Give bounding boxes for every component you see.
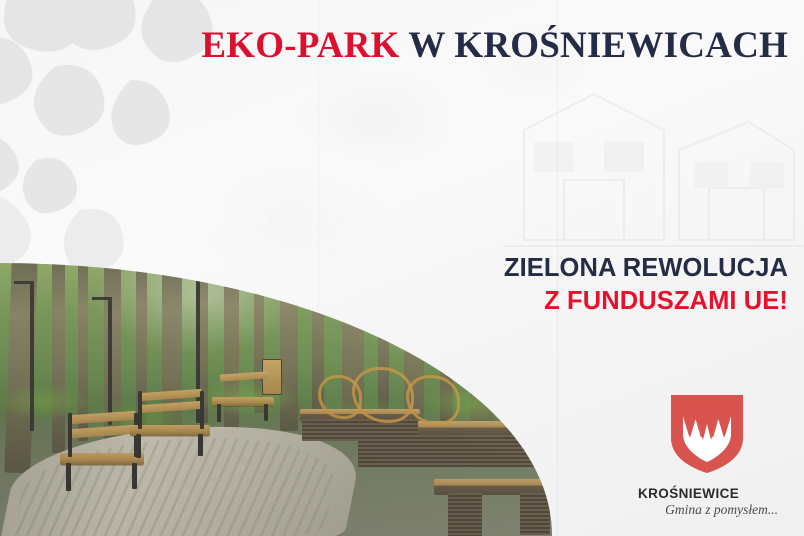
photo-shading (0, 263, 552, 536)
poster-subhead: ZIELONA REWOLUCJA Z FUNDUSZAMI UE! (504, 252, 788, 317)
headline-highlight: EKO-PARK (201, 25, 399, 66)
park-photo (0, 263, 552, 536)
municipality-name: KROŚNIEWICE (632, 486, 782, 501)
park-photo-image (0, 263, 552, 536)
subhead-line-1: ZIELONA REWOLUCJA (504, 252, 788, 285)
coat-of-arms-shield-icon (670, 394, 744, 474)
headline-rest: W KROŚNIEWICACH (400, 25, 788, 66)
municipality-tagline: Gmina z pomysłem... (632, 502, 782, 518)
municipality-logo[interactable]: KROŚNIEWICE Gmina z pomysłem... (632, 394, 782, 518)
poster-headline: EKO-PARK W KROŚNIEWICACH (0, 27, 788, 64)
subhead-line-2: Z FUNDUSZAMI UE! (504, 285, 788, 318)
poster-canvas: EKO-PARK W KROŚNIEWICACH ZIELONA REWOLUC… (0, 0, 804, 536)
